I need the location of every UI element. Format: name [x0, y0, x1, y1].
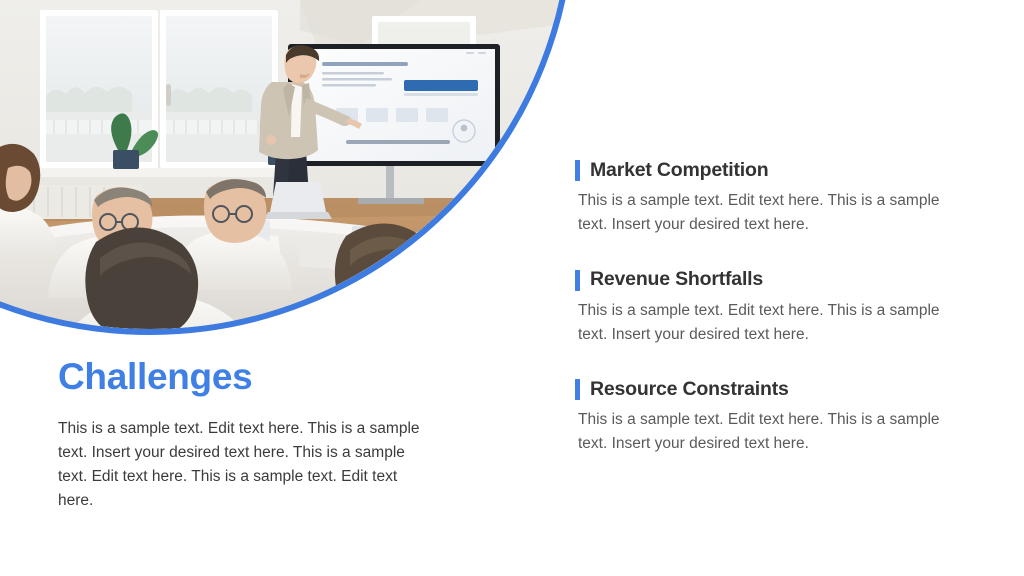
- challenge-item-resource-constraints: Resource Constraints This is a sample te…: [575, 379, 975, 456]
- challenge-title: Resource Constraints: [590, 379, 789, 400]
- challenge-description: This is a sample text. Edit text here. T…: [575, 408, 953, 456]
- challenge-item-market-competition: Market Competition This is a sample text…: [575, 160, 975, 237]
- challenge-description: This is a sample text. Edit text here. T…: [575, 299, 953, 347]
- challenge-heading-row: Market Competition: [575, 160, 975, 181]
- page-title: Challenges: [58, 358, 458, 397]
- hero-photo-clip: [0, 0, 569, 329]
- challenge-title: Market Competition: [590, 160, 768, 181]
- challenge-heading-row: Resource Constraints: [575, 379, 975, 400]
- meeting-room-photo: [0, 0, 569, 329]
- challenge-description: This is a sample text. Edit text here. T…: [575, 189, 953, 237]
- challenge-title: Revenue Shortfalls: [590, 269, 763, 290]
- accent-bar-icon: [575, 270, 580, 291]
- left-content-column: Challenges This is a sample text. Edit t…: [58, 358, 458, 513]
- intro-paragraph: This is a sample text. Edit text here. T…: [58, 417, 436, 513]
- hero-photo-circle: [0, 0, 575, 335]
- accent-bar-icon: [575, 379, 580, 400]
- presentation-slide: Challenges This is a sample text. Edit t…: [0, 0, 1024, 576]
- challenge-heading-row: Revenue Shortfalls: [575, 269, 975, 290]
- challenges-list: Market Competition This is a sample text…: [575, 160, 975, 456]
- accent-bar-icon: [575, 160, 580, 181]
- challenge-item-revenue-shortfalls: Revenue Shortfalls This is a sample text…: [575, 269, 975, 346]
